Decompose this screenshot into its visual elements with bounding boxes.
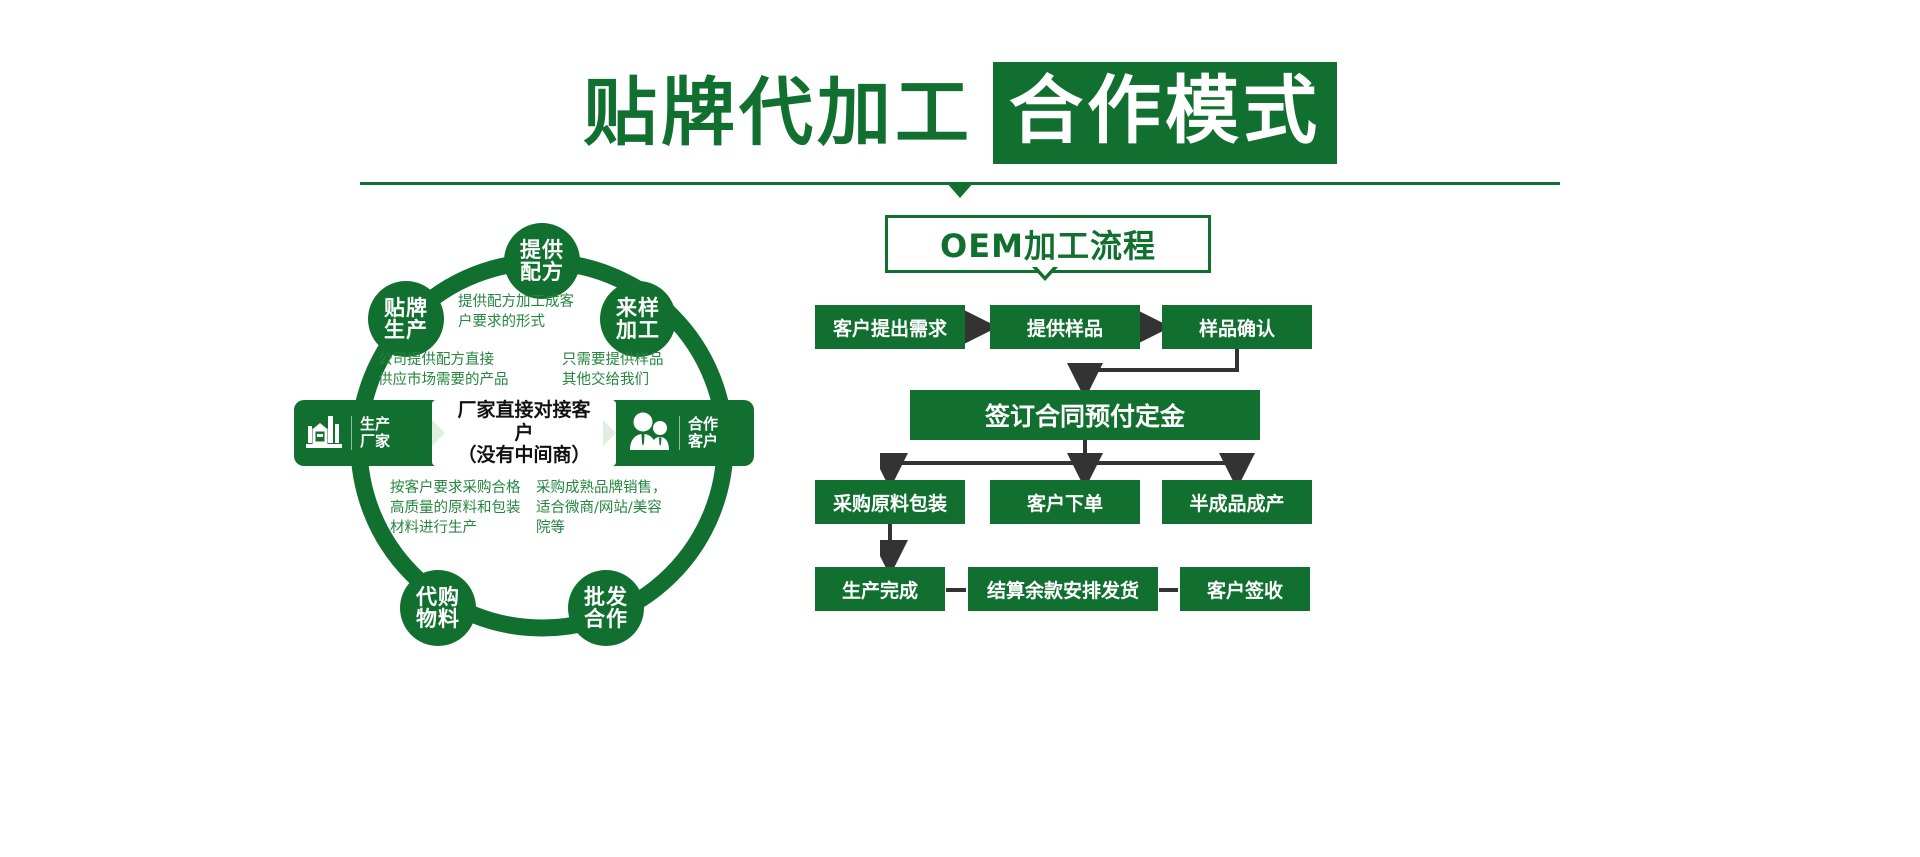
circle-desc-bottom-left: 按客户要求采购合格 高质量的原料和包装 材料进行生产 (390, 478, 550, 538)
circle-desc-bottom-right: 采购成熟品牌销售， 适合微商/网站/美容 院等 (536, 478, 696, 538)
infographic-canvas: 贴牌代加工 合作模式 提供 配方 贴牌 生产 来样 加工 代购 物料 批发 合作 (0, 0, 1920, 857)
flow-title-box: OEM加工流程 (885, 215, 1211, 273)
title-plain-text: 贴牌代加工 (583, 76, 973, 150)
circle-node-bottom-right-line2: 合作 (584, 608, 628, 630)
producer-label: 生产 厂家 (351, 416, 390, 450)
flow-box-sample-confirm[interactable]: 样品确认 (1162, 305, 1312, 349)
circle-desc-top-left: 公司提供配方直接 供应市场需要的产品 (378, 350, 548, 390)
flow-box-provide-sample[interactable]: 提供样品 (990, 305, 1140, 349)
flow-box-sign-contract-deposit[interactable]: 签订合同预付定金 (910, 390, 1260, 440)
circle-node-bottom-left-line2: 物料 (416, 608, 460, 630)
chevron-right-icon (603, 420, 616, 446)
flow-box-customer-receipt[interactable]: 客户签收 (1180, 567, 1310, 611)
divider-notch-icon (946, 182, 974, 198)
title-divider (360, 182, 1560, 206)
chevron-left-icon (432, 420, 445, 446)
cooperation-circle-diagram: 提供 配方 贴牌 生产 来样 加工 代购 物料 批发 合作 提供配方加工成客 户… (290, 250, 850, 670)
circle-node-top-left[interactable]: 贴牌 生产 (368, 281, 444, 357)
flow-box-settle-balance-ship[interactable]: 结算余款安排发货 (968, 567, 1158, 611)
circle-desc-top: 提供配方加工成客 户要求的形式 (458, 292, 628, 332)
circle-node-bottom-right[interactable]: 批发 合作 (568, 570, 644, 646)
flow-box-semifinished-production[interactable]: 半成品成产 (1162, 480, 1312, 524)
factory-icon (304, 412, 344, 455)
circle-node-top[interactable]: 提供 配方 (504, 223, 580, 299)
circle-node-bottom-left-line1: 代购 (416, 586, 460, 608)
flow-box-customer-order[interactable]: 客户下单 (990, 480, 1140, 524)
circle-node-top-left-line1: 贴牌 (384, 297, 428, 319)
center-statement: 厂家直接对接客户 （没有中间商） (432, 400, 616, 466)
flow-box-customer-request[interactable]: 客户提出需求 (815, 305, 965, 349)
circle-node-bottom-left[interactable]: 代购 物料 (400, 570, 476, 646)
flow-box-production-complete[interactable]: 生产完成 (815, 567, 945, 611)
circle-node-top-line1: 提供 (520, 239, 564, 261)
flow-box-purchase-materials[interactable]: 采购原料包装 (815, 480, 965, 524)
center-statement-text: 厂家直接对接客户 （没有中间商） (451, 399, 597, 467)
page-title: 贴牌代加工 合作模式 (0, 62, 1920, 164)
circle-node-top-line2: 配方 (520, 261, 564, 283)
direct-connection-bar: 生产 厂家 厂家直接对接客户 （没有中间商） (294, 400, 754, 466)
producer-side: 生产 厂家 (294, 400, 432, 466)
circle-desc-top-right: 只需要提供样品 其他交给我们 (562, 350, 732, 390)
customer-side: 合作 客户 (616, 400, 754, 466)
circle-node-top-left-line2: 生产 (384, 319, 428, 341)
people-icon (626, 411, 672, 456)
circle-node-bottom-right-line1: 批发 (584, 586, 628, 608)
flow-title-notch-icon (1032, 267, 1058, 281)
customer-label: 合作 客户 (679, 416, 718, 450)
title-boxed-text: 合作模式 (993, 62, 1337, 164)
oem-flowchart: OEM加工流程 客户提出需求 提供样品 (880, 215, 1780, 645)
flow-title-text: OEM加工流程 (940, 221, 1156, 267)
